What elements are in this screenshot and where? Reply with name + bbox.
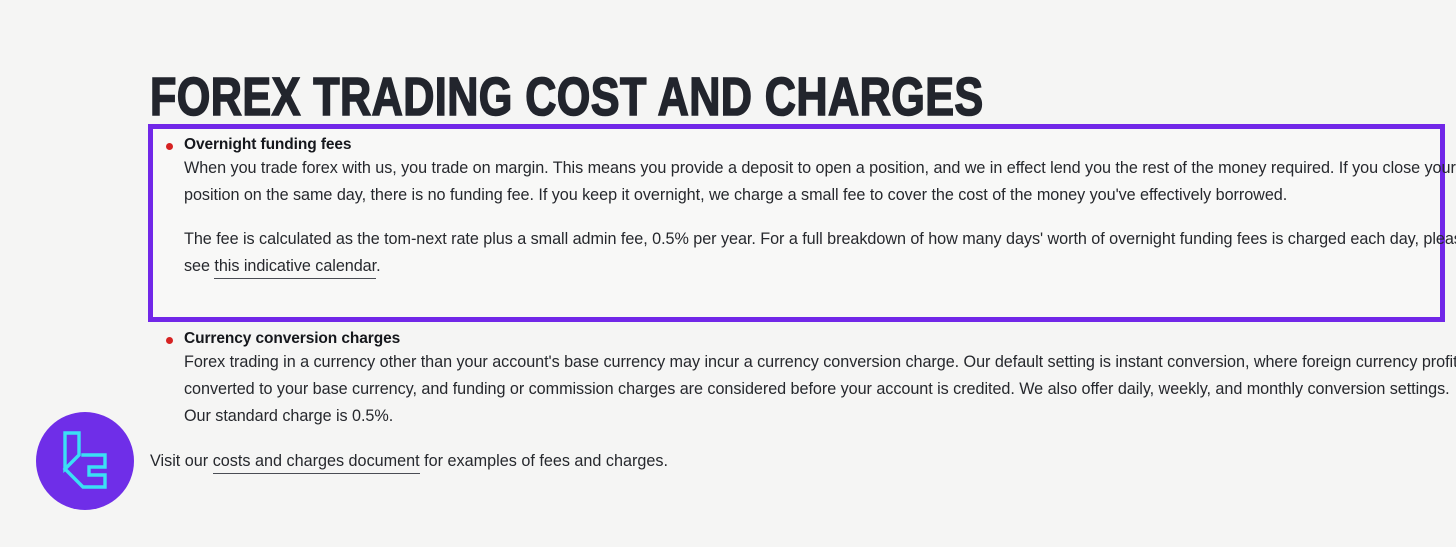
- brand-logo[interactable]: [36, 412, 134, 510]
- paragraph-overnight-p1: When you trade forex with us, you trade …: [184, 155, 1456, 209]
- brand-logo-glyph-icon: [49, 425, 121, 497]
- section-title-overnight-funding-fees: Overnight funding fees: [184, 134, 1456, 155]
- page-root: FOREX TRADING COST AND CHARGES Overnight…: [0, 0, 1456, 547]
- paragraph-spacer: [184, 209, 1456, 226]
- paragraph-currency-p1: Forex trading in a currency other than y…: [184, 349, 1456, 430]
- link-this-indicative-calendar[interactable]: this indicative calendar: [214, 257, 376, 279]
- list-item-currency-conversion-charges: Currency conversion charges Forex tradin…: [148, 328, 1456, 430]
- section-title-currency-conversion-charges: Currency conversion charges: [184, 328, 1456, 349]
- bullet-dot-icon: [166, 337, 173, 344]
- page-title: FOREX TRADING COST AND CHARGES: [150, 69, 984, 125]
- visit-costs-and-charges-line: Visit our costs and charges document for…: [150, 448, 1440, 475]
- visit-line-text-after: for examples of fees and charges.: [420, 452, 668, 470]
- link-costs-and-charges-document[interactable]: costs and charges document: [213, 452, 420, 474]
- visit-line-text-before: Visit our: [150, 452, 213, 470]
- list-item-overnight-funding-fees: Overnight funding fees When you trade fo…: [148, 134, 1456, 280]
- bullet-dot-icon: [166, 143, 173, 150]
- paragraph-overnight-p2-text-after: .: [376, 257, 380, 275]
- paragraph-overnight-p2: The fee is calculated as the tom-next ra…: [184, 226, 1456, 280]
